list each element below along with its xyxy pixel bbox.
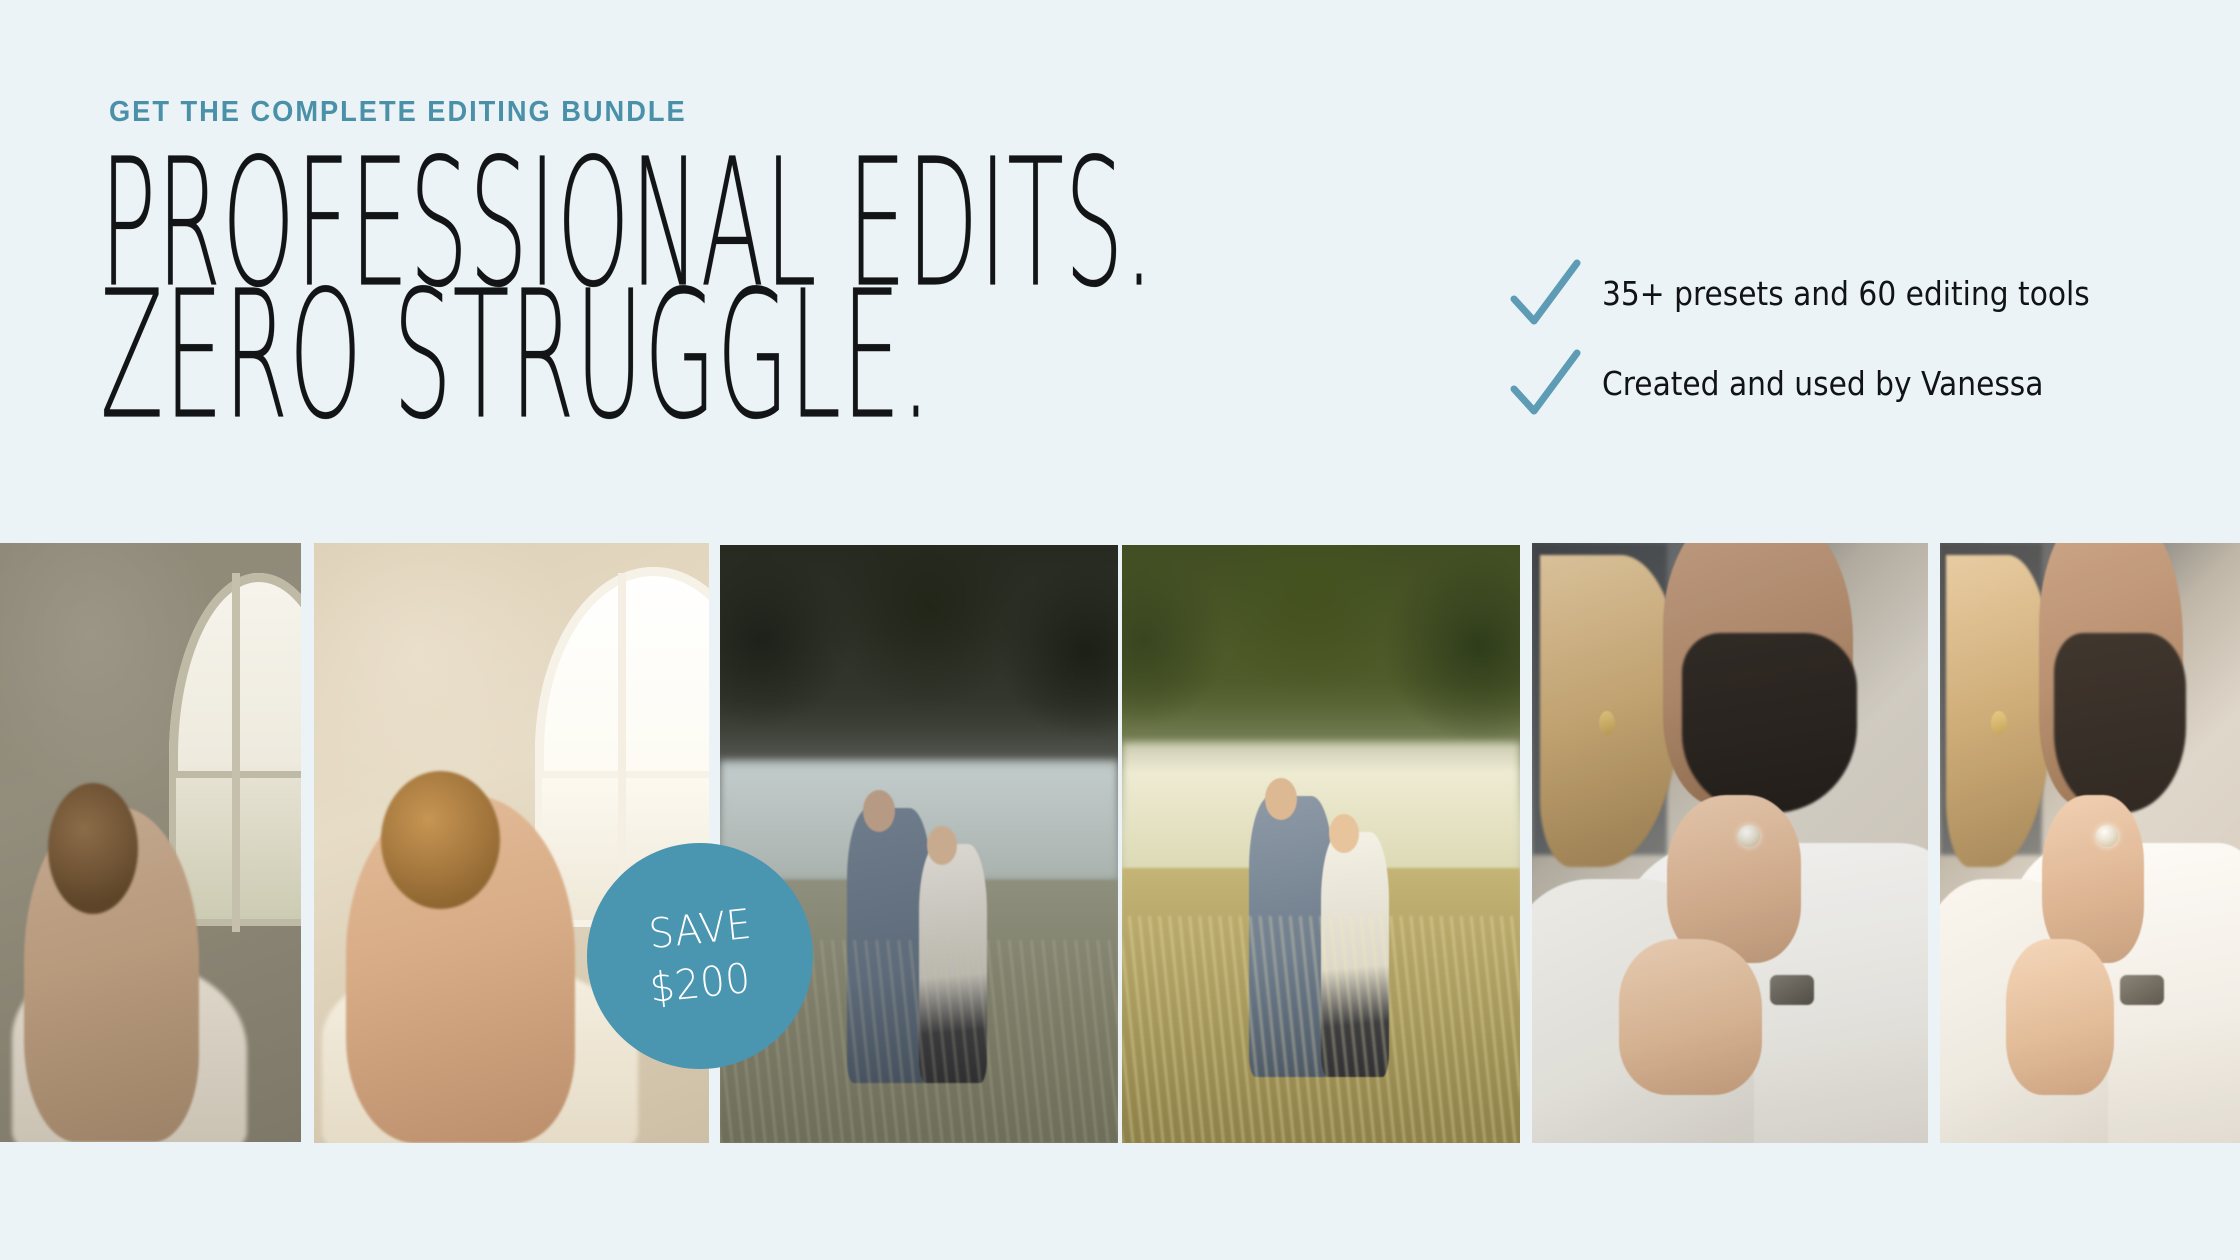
check-icon (1508, 257, 1584, 329)
benefit-label: 35+ presets and 60 editing tools (1602, 274, 2090, 313)
before-after-gallery (0, 543, 2240, 1143)
hero-copy-block: GET THE COMPLETE EDITING BUNDLE PROFESSI… (0, 0, 2240, 543)
photo-image (1940, 543, 2240, 1143)
page-title: PROFESSIONAL EDITS. ZERO STRUGGLE. (100, 150, 1500, 408)
headline-line-2: ZERO STRUGGLE. (100, 282, 968, 431)
gallery-panel-couple-after[interactable] (1122, 545, 1520, 1143)
photo-image (1532, 543, 1928, 1143)
photo-image (0, 543, 301, 1142)
photo-image (1122, 545, 1520, 1143)
list-item: Created and used by Vanessa (1508, 338, 2208, 428)
gallery-panel-ring-after[interactable] (1940, 543, 2240, 1143)
gallery-panel-couple-before[interactable] (720, 545, 1118, 1143)
list-item: 35+ presets and 60 editing tools (1508, 248, 2208, 338)
gallery-panel-bride-before[interactable] (0, 543, 301, 1142)
benefit-list: 35+ presets and 60 editing tools Created… (1508, 248, 2208, 428)
photo-image (720, 545, 1118, 1143)
check-icon (1508, 347, 1584, 419)
status-badge[interactable]: SAVE $200 (587, 843, 813, 1069)
badge-line-2: $200 (647, 951, 753, 1015)
promo-banner: GET THE COMPLETE EDITING BUNDLE PROFESSI… (0, 0, 2240, 1260)
benefit-label: Created and used by Vanessa (1602, 364, 2043, 403)
gallery-panel-ring-before[interactable] (1532, 543, 1928, 1143)
